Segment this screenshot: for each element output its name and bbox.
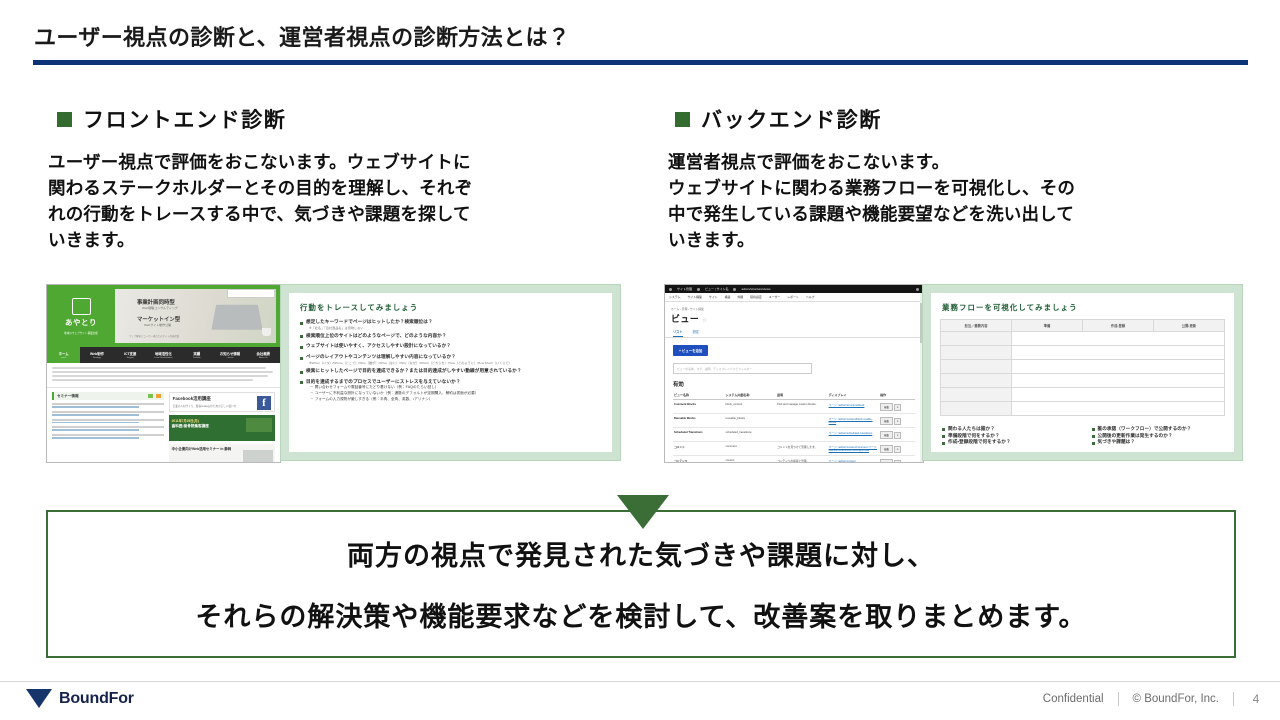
website-logo-sub: 地域のウェブサイト構築支援: [64, 331, 98, 335]
website-hero: あやとり 地域のウェブサイト構築支援 事業計画同時型 Web戦略コンサルティング…: [47, 285, 280, 347]
trace-item: ウェブサイトは使いやすく、アクセスしやすい設計になっているか？: [300, 343, 603, 349]
flow-panel: 業務フローを可視化してみましょう 担当／業務内容 準備 作成・登録 公開・更新: [922, 284, 1243, 461]
flow-question: 公開後の更新作業は発生するのか？: [1092, 433, 1226, 439]
table-header-row: ビュー名称 システム内部名称 説明 ディスプレイ 操作: [673, 391, 915, 400]
trace-subitem: － フォームの入力規則が厳しすぎる（例：半角、全角、英数、・アリナシ）: [310, 397, 603, 402]
star-icon[interactable]: ☆: [702, 318, 708, 324]
website-logo-name: あやとり: [65, 317, 97, 328]
people-photo: [243, 450, 273, 464]
bullet-icon: [300, 346, 303, 349]
chevron-down-icon[interactable]: ▾: [894, 446, 901, 453]
add-view-button[interactable]: + ビューを追加: [673, 345, 708, 356]
display-link[interactable]: ページ: /admin/content: [829, 460, 856, 463]
bullet-icon: [942, 428, 945, 431]
bullet-icon: [300, 371, 303, 374]
flow-panel-title: 業務フローを可視化してみましょう: [942, 302, 1225, 313]
logo-triangle-icon: [26, 689, 52, 708]
website-nav-item[interactable]: ICT支援 Support: [114, 347, 147, 363]
website-logo: あやとり 地域のウェブサイト構築支援: [47, 285, 115, 347]
square-bullet-icon: [675, 112, 690, 127]
edit-button[interactable]: 編集: [880, 417, 893, 425]
trace-item-note: ※When（いつ）/Where（どこで）/Who（誰が）/What（なに）/Wh…: [309, 361, 603, 365]
chevron-down-icon[interactable]: ▾: [894, 460, 901, 464]
admin-tab-settings[interactable]: 設定: [693, 329, 699, 337]
chevron-down-icon[interactable]: ▾: [894, 404, 901, 411]
website-nav-item[interactable]: 地域活性化 Local Revitalization: [147, 347, 180, 363]
display-link[interactable]: ページ: /admin/scheduled-transitions: [829, 432, 873, 435]
feed-chip-icon: [156, 394, 161, 398]
breadcrumb: ホーム › 管理 › サイト構築: [665, 302, 923, 311]
frontend-description: ユーザー視点で評価をおこないます。ウェブサイトに 関わるステークホルダーとその目…: [48, 150, 628, 254]
website-main: セミナー情報 f Facebook活用講座 企業の人材づくり、集客strateg…: [47, 388, 280, 463]
tab-icon: [669, 288, 672, 291]
table-row[interactable]: コメント comment コメントを見つけて管理します。 ページ: /admin…: [673, 442, 915, 456]
browser-url[interactable]: admin/structure/views: [741, 287, 770, 291]
frontend-line-1: ユーザー視点で評価をおこないます。ウェブサイトに: [48, 150, 628, 176]
frontend-line-3: れの行動をトレースする中で、気づきや課題を探して: [48, 202, 628, 228]
list-item[interactable]: [52, 426, 164, 431]
backend-heading: バックエンド診断: [675, 104, 882, 134]
bullet-icon: [300, 381, 303, 384]
conclusion-line-2: それらの解決策や機能要求などを検討して、改善案を取りまとめます。: [195, 595, 1086, 634]
edit-button[interactable]: 編集: [880, 403, 893, 411]
trace-item: 検索にヒットしたページで目的を達成できるか？または目的達成がしやすい動線が用意さ…: [300, 368, 603, 374]
copyright-label: © BoundFor, Inc.: [1133, 693, 1219, 705]
workflow-table: 担当／業務内容 準備 作成・登録 公開・更新: [940, 319, 1225, 416]
laptop-illustration: [211, 305, 262, 330]
views-table: ビュー名称 システム内部名称 説明 ディスプレイ 操作 Comment Bloc…: [673, 391, 915, 463]
square-bullet-icon: [57, 112, 72, 127]
filter-input[interactable]: ビューの名前、タグ、説明、ディスプレイパスでフィルター: [673, 363, 812, 374]
table-row[interactable]: [941, 388, 1225, 402]
toolbar-item[interactable]: レポート: [787, 295, 799, 299]
chevron-down-icon[interactable]: ▾: [894, 418, 901, 425]
website-search-box[interactable]: [227, 289, 275, 298]
slide-root: ユーザー視点の診断と、運営者視点の診断方法とは？ フロントエンド診断 ユーザー視…: [0, 0, 1280, 720]
table-row[interactable]: [941, 360, 1225, 374]
browser-tab-bar: サイト管理 ビュー | サイト名 admin/structure/views: [665, 285, 923, 293]
logo-text: BoundFor: [59, 690, 134, 708]
toolbar-item[interactable]: 構造: [725, 295, 731, 299]
table-row[interactable]: Comment Blocks block_content Find and ma…: [673, 400, 915, 414]
tab-icon: [697, 288, 700, 291]
website-side-column: f Facebook活用講座 企業の人材づくり、集客strategyのための正し…: [169, 392, 275, 463]
trace-item-note: ※「社名」「自社商品名」は意味しない: [309, 326, 603, 330]
website-nav-item[interactable]: 実績 Portfolio: [180, 347, 213, 363]
banner-line-3: マーケットイン型: [137, 315, 180, 323]
table-row[interactable]: [941, 402, 1225, 416]
flow-question: 関わる人たちは誰か？: [942, 426, 1076, 432]
bullet-icon: [1092, 435, 1095, 438]
banner-line-1: 事業計画同時型: [137, 298, 175, 306]
down-arrow-icon: [617, 495, 669, 529]
page-title: ユーザー視点の診断と、運営者視点の診断方法とは？: [34, 20, 570, 52]
admin-tabs[interactable]: リスト 設定: [665, 325, 923, 338]
table-row[interactable]: コンテンツ content コンテンツの検索と管理。 ページ: /admin/c…: [673, 456, 915, 464]
logo-mark-icon: [72, 298, 91, 315]
website-nav-item[interactable]: ホーム Home: [47, 347, 80, 363]
bullet-icon: [300, 322, 303, 325]
frontend-heading-label: フロントエンド診断: [83, 104, 286, 134]
backend-description: 運営者視点で評価をおこないます。 ウェブサイトに関わる業務フローを可視化し、その…: [668, 150, 1258, 254]
lock-icon: [916, 288, 919, 291]
browser-tab-title[interactable]: サイト管理: [677, 287, 692, 291]
rss-chip-icon: [148, 394, 153, 398]
admin-tab-list[interactable]: リスト: [673, 329, 683, 337]
flow-questions-left: 関わる人たちは誰か？ 準備段階で何をするか？ 作成・登録段階で何をするか？: [940, 426, 1076, 446]
flow-question: 作成・登録段階で何をするか？: [942, 439, 1076, 445]
promo-decoration: [246, 418, 272, 432]
frontend-line-4: いきます。: [48, 228, 628, 254]
trace-item: 検索順位上位のサイトはどのようなページで、どのような内容か？: [300, 333, 603, 339]
admin-screenshot-thumbnail: サイト管理 ビュー | サイト名 admin/structure/views シ…: [664, 284, 924, 463]
seminar-promo-card[interactable]: 2011年7月25日(月) 歯科医・接骨院集客講座: [169, 415, 275, 441]
table-row[interactable]: [941, 346, 1225, 360]
list-item[interactable]: [52, 434, 164, 439]
backend-line-4: いきます。: [668, 228, 1258, 254]
trace-subitem: － 問い合わせフォームや電話番号にたどり着けない（例：FAQのたらい回し）: [310, 385, 603, 390]
banner-note: ウェブ解析とユーザー視点でのサイト改善提案: [129, 334, 179, 338]
bullet-icon: [300, 357, 303, 360]
tab-icon: [733, 288, 736, 291]
admin-toolbar[interactable]: システム サイト構築 サイト 構造 外観 環境設定 ユーザー レポート ヘルプ: [665, 293, 923, 302]
flow-question: 気づきや課題は？: [1092, 439, 1226, 445]
backend-heading-label: バックエンド診断: [701, 104, 882, 134]
toolbar-item[interactable]: システム: [669, 295, 680, 299]
flow-questions-right: 誰の承認（ワークフロー）で公開するのか？ 公開後の更新作業は発生するのか？ 気づ…: [1090, 426, 1226, 446]
trace-item: 想定したキーワードでページはヒットしたか？検索順位は？: [300, 319, 603, 325]
title-underline: [33, 60, 1248, 65]
chevron-down-icon[interactable]: ▾: [894, 432, 901, 439]
facebook-promo-card[interactable]: f Facebook活用講座 企業の人材づくり、集客strategyのための正し…: [169, 392, 275, 412]
toolbar-item[interactable]: ヘルプ: [806, 295, 815, 299]
banner-line-2: Web戦略コンサルティング: [142, 306, 178, 310]
website-intro-text: [47, 363, 280, 388]
website-nav[interactable]: ホーム Home Web制作 Strategy ICT支援 Support 地域…: [47, 347, 280, 363]
table-header-row: 担当／業務内容 準備 作成・登録 公開・更新: [941, 320, 1225, 332]
flow-questions: 関わる人たちは誰か？ 準備段階で何をするか？ 作成・登録段階で何をするか？ 誰の…: [940, 426, 1225, 446]
table-row[interactable]: [941, 332, 1225, 346]
website-screenshot-thumbnail: あやとり 地域のウェブサイト構築支援 事業計画同時型 Web戦略コンサルティング…: [46, 284, 281, 463]
website-nav-item[interactable]: Web制作 Strategy: [80, 347, 113, 363]
frontend-heading: フロントエンド診断: [57, 104, 286, 134]
cup-illustration: [262, 328, 271, 336]
seminar-promo-card-2[interactable]: 中小企業向けWeb活用セミナー in 静岡: [169, 444, 275, 464]
boundfor-logo: BoundFor: [26, 689, 134, 708]
trace-item: 目的を達成するまでのプロセスでユーザーにストレスを与えていないか？: [300, 379, 603, 385]
display-link[interactable]: ページ: /admin/structure/block: [829, 404, 865, 407]
toolbar-item[interactable]: サイト: [709, 295, 718, 299]
toolbar-item[interactable]: ユーザー: [769, 295, 781, 299]
website-nav-item[interactable]: 会社概要 About Us: [247, 347, 280, 363]
list-item[interactable]: [52, 403, 164, 408]
bullet-icon: [1092, 428, 1095, 431]
display-link[interactable]: ページ: /admin/content/comment ページ: /admin/…: [829, 446, 877, 452]
display-link[interactable]: ページ: /admin/content/block-usable-blocks: [829, 418, 873, 424]
website-section-bar: セミナー情報: [52, 392, 164, 400]
enabled-section-heading: 有効: [665, 374, 923, 388]
trace-subitem: － ユーザーに不利益な設計になっていないか（例：通販のデフォルトが定期購入、解約…: [310, 391, 603, 396]
toolbar-item[interactable]: 環境設定: [750, 295, 762, 299]
edit-button[interactable]: 編集: [880, 459, 893, 464]
footer-separator: [1118, 692, 1119, 706]
bullet-icon: [942, 442, 945, 445]
section-label: セミナー情報: [57, 394, 79, 399]
toolbar-item[interactable]: サイト構築: [687, 295, 701, 299]
toolbar-item[interactable]: 外観: [737, 295, 743, 299]
frontend-line-2: 関わるステークホルダーとその目的を理解し、それぞ: [48, 176, 628, 202]
backend-line-3: 中で発生している課題や機能要望などを洗い出して: [668, 202, 1258, 228]
flow-question: 誰の承認（ワークフロー）で公開するのか？: [1092, 426, 1226, 432]
bullet-icon: [1092, 442, 1095, 445]
edit-button[interactable]: 編集: [880, 431, 893, 439]
table-row[interactable]: [941, 374, 1225, 388]
confidential-label: Confidential: [1043, 693, 1104, 705]
trace-panel: 行動をトレースしてみましょう 想定したキーワードでページはヒットしたか？検索順位…: [280, 284, 621, 461]
website-nav-item[interactable]: お知らせ情報 Column: [213, 347, 246, 363]
facebook-icon: f: [257, 396, 271, 410]
banner-line-4: Webサイト制作公開: [144, 323, 171, 327]
footer-divider: [0, 681, 1280, 682]
footer-meta: Confidential © BoundFor, Inc. 4: [1043, 692, 1264, 706]
bullet-icon: [942, 435, 945, 438]
website-seminar-column: セミナー情報: [52, 392, 164, 463]
conclusion-line-1: 両方の視点で発見された気づきや課題に対し、: [347, 534, 935, 573]
conclusion-box: 両方の視点で発見された気づきや課題に対し、 それらの解決策や機能要求などを検討し…: [46, 510, 1236, 658]
backend-line-2: ウェブサイトに関わる業務フローを可視化し、その: [668, 176, 1258, 202]
list-item[interactable]: [52, 419, 164, 424]
bullet-icon: [300, 335, 303, 338]
table-row[interactable]: Reusable Blocks reusable_blocks ページ: /ad…: [673, 414, 915, 428]
trace-panel-title: 行動をトレースしてみましょう: [300, 302, 603, 313]
flow-question: 準備段階で何をするか？: [942, 433, 1076, 439]
table-row[interactable]: Scheduled Transitions scheduled_transiti…: [673, 428, 915, 442]
backend-line-1: 運営者視点で評価をおこないます。: [668, 150, 1258, 176]
list-item[interactable]: [52, 411, 164, 416]
trace-item: ページのレイアウトやコンテンツは理解しやすい内容になっているか？: [300, 354, 603, 360]
edit-button[interactable]: 編集: [880, 445, 893, 453]
page-number: 4: [1248, 692, 1264, 706]
browser-tab-title-2[interactable]: ビュー | サイト名: [705, 287, 728, 291]
footer-separator: [1233, 692, 1234, 706]
admin-page-title: ビュー ☆: [665, 311, 923, 325]
